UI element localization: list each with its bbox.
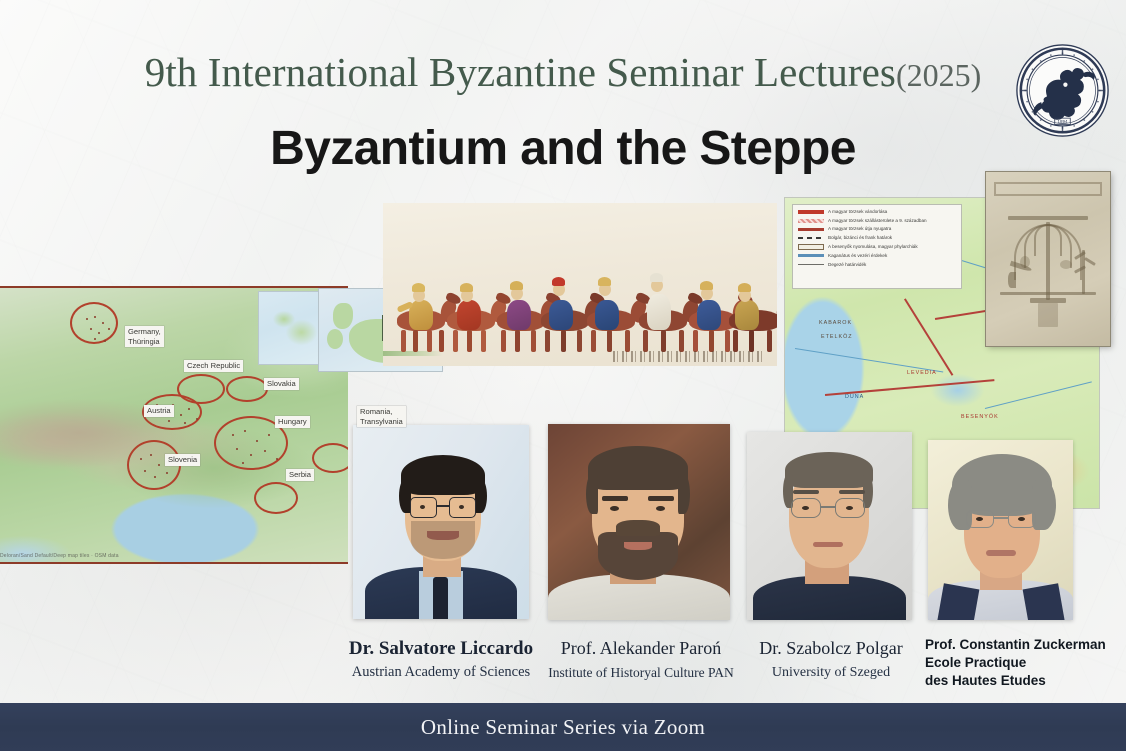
map-region-circle (254, 482, 298, 514)
legend-row: A magyar törzsek vándorlása (798, 209, 956, 215)
map-legend: A magyar törzsek vándorlása A magyar tör… (792, 204, 962, 289)
legend-row: A besenyők nyomulása, magyar phylarchiák (798, 244, 956, 250)
map-region-circle (226, 376, 268, 402)
map-label: Slovenia (165, 454, 200, 466)
ethrog-carving (1060, 260, 1072, 269)
poster-canvas: 9th International Byzantine Seminar Lect… (0, 0, 1126, 751)
legend-swatch-borders (798, 237, 824, 239)
relief-ground-line (1000, 292, 1096, 295)
legend-row: Kaganátus és vezéri érdekek (798, 253, 956, 259)
legend-label: A magyar törzsek szállásterülete a 9. sz… (828, 218, 927, 224)
institution-seal-icon: 1894 (1014, 42, 1111, 139)
manuscript-illumination-horsemen (383, 203, 777, 366)
legend-label: Bolgár, bizánci és frank határok (828, 235, 892, 241)
relief-frame-top (994, 182, 1102, 196)
map-place-label: KABAROK (819, 320, 852, 326)
speaker-photo-polgar (747, 432, 912, 620)
map-label: Austria (144, 405, 174, 417)
legend-row: Degezé határvidék (798, 262, 956, 268)
legend-swatch-migration (798, 210, 824, 214)
series-title-row: 9th International Byzantine Seminar Lect… (0, 52, 1126, 94)
legend-swatch-westward (798, 228, 824, 231)
legend-swatch-pechenegs (798, 244, 824, 250)
menorah-foot (1038, 303, 1058, 327)
legend-label: A besenyők nyomulása, magyar phylarchiák (828, 244, 918, 250)
menorah-branch (1014, 224, 1082, 280)
main-heading: Byzantium and the Steppe (0, 121, 1126, 178)
speaker-photo-zuckerman (928, 440, 1073, 620)
face-liccardo (353, 425, 529, 619)
speaker-caption-zuckerman: Prof. Constantin Zuckerman Ecole Practiq… (925, 636, 1121, 689)
legend-swatch-frontier (798, 264, 824, 266)
legend-label: A magyar törzsek vándorlása (828, 209, 887, 215)
map-river (795, 348, 943, 373)
shofar-carving (1008, 272, 1016, 288)
map-label: Slovakia (264, 378, 299, 390)
legend-label: Degezé határvidék (828, 262, 866, 268)
speaker-affiliation-paron: Institute of Historyal Culture PAN (520, 665, 762, 681)
map-label: Czech Republic (184, 360, 243, 372)
svg-text:1894: 1894 (1058, 119, 1068, 124)
legend-label: Kaganátus és vezéri érdekek (828, 253, 887, 259)
speaker-name-paron: Prof. Alekander Paroń (528, 638, 754, 659)
speaker-name-zuckerman: Prof. Constantin Zuckerman (925, 636, 1121, 654)
map-route (904, 298, 953, 375)
lulav-carving (1084, 257, 1096, 266)
map-label-romania: Romania, Transylvania (357, 406, 406, 427)
legend-row: Bolgár, bizánci és frank határok (798, 235, 956, 241)
map-place-label: BESENYŐK (961, 414, 999, 420)
map-label: Germany, Thüringia (125, 326, 164, 347)
legend-row: A magyar törzsek szállásterülete a 9. sz… (798, 218, 956, 224)
face-polgar (747, 432, 912, 620)
map-region-circle (312, 443, 348, 473)
speaker-photo-liccardo (353, 425, 529, 619)
face-zuckerman (928, 440, 1073, 620)
ethrog-carving (1020, 256, 1030, 268)
map-place-label: DUNA (845, 394, 864, 400)
map-label: Hungary (275, 416, 310, 428)
map-place-label: LEVEDIA (907, 370, 937, 376)
map-label: Serbia (286, 469, 314, 481)
footer-bar: Online Seminar Series via Zoom (0, 703, 1126, 751)
speaker-affiliation-polgar: University of Szeged (735, 665, 927, 681)
legend-row: A magyar törzsek útja nyugatra (798, 226, 956, 232)
legend-swatch-khaganate (798, 254, 824, 257)
map-credit-text: Deloran/Sand Default/Deep map tiles · OS… (0, 553, 119, 559)
legend-swatch-settlement (798, 219, 824, 223)
map-central-europe: Germany, Thüringia Czech Republic Slovak… (0, 286, 348, 564)
footer-text: Online Seminar Series via Zoom (421, 715, 705, 740)
speaker-affiliation-zuckerman-line1: Ecole Practique (925, 654, 1121, 672)
speaker-name-polgar: Dr. Szabolcz Polgar (735, 638, 927, 659)
stone-relief-menorah (986, 172, 1110, 346)
manuscript-greek-text (613, 351, 763, 362)
menorah-crossbar (1008, 216, 1088, 220)
map-river (985, 381, 1092, 409)
page-title: 9th International Byzantine Seminar Lect… (145, 49, 896, 95)
legend-label: A magyar törzsek útja nyugatra (828, 226, 891, 232)
series-year: (2025) (896, 57, 981, 93)
map-place-label: ETELKÖZ (821, 334, 853, 340)
face-paron (548, 424, 730, 620)
speaker-affiliation-zuckerman-line2: des Hautes Etudes (925, 672, 1121, 690)
speaker-photo-paron (548, 424, 730, 620)
